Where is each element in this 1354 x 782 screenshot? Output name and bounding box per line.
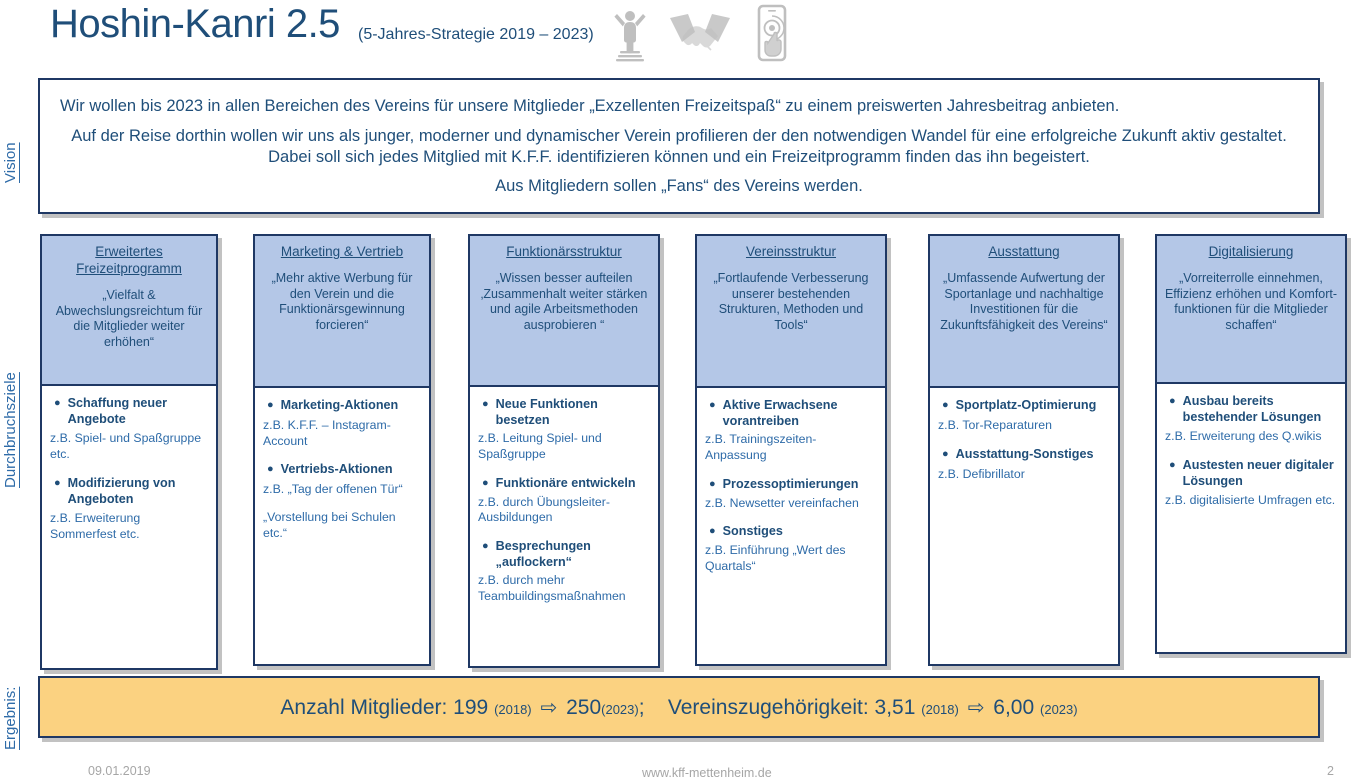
arrow-right-icon: ⇨: [537, 697, 560, 719]
list-item: ● Ausbau bereits bestehender Lösungen: [1165, 393, 1337, 425]
list-item: ● Schaffung neuer Angebote: [50, 395, 208, 427]
section-label-ergebnis: Ergebnis:: [2, 672, 19, 764]
vision-line-1: Wir wollen bis 2023 in allen Bereichen d…: [56, 96, 1302, 117]
breakthrough-column-vereinsstruktur[interactable]: Vereinsstruktur „Fortlaufende Verbesseru…: [695, 234, 887, 666]
column-body: ● Marketing-Aktionen z.B. K.F.F. – Insta…: [255, 388, 429, 664]
list-item-example: z.B. K.F.F. – Instagram-Account: [263, 418, 421, 449]
list-item-label: Marketing-Aktionen: [281, 397, 399, 413]
list-item-example: z.B. „Tag der offenen Tür“: [263, 482, 421, 498]
list-item-example: z.B. Erweiterung Sommerfest etc.: [50, 511, 208, 542]
column-body: ● Neue Funktionen besetzen z.B. Leitung …: [470, 387, 658, 666]
list-item: ● Vertriebs-Aktionen: [263, 461, 421, 478]
list-item-label: Vertriebs-Aktionen: [281, 461, 393, 477]
column-quote: „Mehr aktive Werbung für den Verein und …: [262, 271, 422, 334]
page-title: Hoshin-Kanri 2.5: [50, 2, 340, 47]
column-title: Vereinsstruktur: [704, 244, 878, 261]
metric2-to-year: (2023): [1040, 702, 1078, 717]
list-item-example: „Vorstellung bei Schulen etc.“: [263, 510, 421, 541]
list-item: ● Sonstiges: [705, 523, 877, 540]
column-title: Ausstattung: [937, 244, 1111, 261]
bullet-dot-icon: ●: [482, 538, 489, 555]
bullet-dot-icon: ●: [267, 397, 274, 414]
bullet-dot-icon: ●: [942, 446, 949, 463]
metric2-from-year: (2018): [921, 702, 959, 717]
section-label-vision: Vision: [2, 108, 19, 218]
list-item-label: Austesten neuer digitaler Lösungen: [1183, 457, 1337, 489]
column-title: Erweitertes Freizeitprogramm: [49, 244, 209, 278]
column-body: ● Sportplatz-Optimierung z.B. Tor-Repara…: [930, 388, 1118, 664]
metrics-separator: ;: [639, 696, 645, 719]
bullet-dot-icon: ●: [709, 476, 716, 493]
list-item-label: Ausstattung-Sonstiges: [956, 446, 1094, 462]
vision-line-2: Auf der Reise dorthin wollen wir uns als…: [56, 126, 1302, 169]
column-title: Funktionärsstruktur: [477, 244, 651, 261]
column-body: ● Aktive Erwachsene vorantreiben z.B. Tr…: [697, 388, 885, 664]
list-item-label: Funktionäre entwickeln: [496, 475, 636, 491]
bullet-dot-icon: ●: [482, 396, 489, 413]
list-item: ● Besprechungen „auflockern“: [478, 538, 650, 570]
column-quote: „Umfassende Aufwertung der Sportanlage u…: [937, 271, 1111, 334]
durchbruchsziele-columns: Erweitertes Freizeitprogramm „Vielfalt &…: [0, 234, 1354, 670]
list-item-example: z.B. Spiel- und Spaßgruppe etc.: [50, 431, 208, 462]
handshake-icon: [668, 8, 732, 63]
footer-page-number: 2: [1327, 764, 1334, 778]
list-item-label: Ausbau bereits bestehender Lösungen: [1183, 393, 1337, 425]
breakthrough-column-digitalisierung[interactable]: Digitalisierung „Vorreiterrolle einnehme…: [1155, 234, 1347, 654]
ergebnis-panel: Anzahl Mitglieder: 199 (2018) ⇨ 250(2023…: [38, 676, 1320, 738]
list-item: ● Funktionäre entwickeln: [478, 475, 650, 492]
list-item: ● Marketing-Aktionen: [263, 397, 421, 414]
list-item-example: z.B. Erweiterung des Q.wikis: [1165, 429, 1337, 445]
list-item-example: z.B. Einführung „Wert des Quartals“: [705, 543, 877, 574]
arrow-right-icon: ⇨: [965, 697, 988, 719]
smartphone-touch-icon: [752, 4, 792, 67]
list-item-label: Schaffung neuer Angebote: [68, 395, 208, 427]
bullet-dot-icon: ●: [482, 475, 489, 492]
list-item-label: Neue Funktionen besetzen: [496, 396, 650, 428]
vision-line-3: Aus Mitgliedern sollen „Fans“ des Verein…: [56, 176, 1302, 197]
list-item: ● Neue Funktionen besetzen: [478, 396, 650, 428]
result-metrics: Anzahl Mitglieder: 199 (2018) ⇨ 250(2023…: [280, 695, 1077, 720]
footer-url: www.kff-mettenheim.de: [642, 766, 772, 780]
list-item-label: Modifizierung von Angeboten: [68, 475, 208, 507]
breakthrough-column-funktionaersstruktur[interactable]: Funktionärsstruktur „Wissen besser aufte…: [468, 234, 660, 668]
list-item: ● Ausstattung-Sonstiges: [938, 446, 1110, 463]
list-item-example: z.B. Leitung Spiel- und Spaßgruppe: [478, 431, 650, 462]
bullet-dot-icon: ●: [1169, 457, 1176, 474]
column-title: Digitalisierung: [1164, 244, 1338, 261]
column-header: Erweitertes Freizeitprogramm „Vielfalt &…: [42, 236, 216, 386]
list-item: ● Modifizierung von Angeboten: [50, 475, 208, 507]
column-body: ● Ausbau bereits bestehender Lösungen z.…: [1157, 384, 1345, 652]
column-quote: „Vielfalt & Abwechslungsreichtum für die…: [49, 288, 209, 351]
list-item-example: z.B. Trainingszeiten-Anpassung: [705, 432, 877, 463]
list-item-example: z.B. digitalisierte Umfragen etc.: [1165, 493, 1337, 509]
column-header: Ausstattung „Umfassende Aufwertung der S…: [930, 236, 1118, 388]
metric1-label: Anzahl Mitglieder:: [280, 696, 447, 719]
list-item-example: z.B. Defibrillator: [938, 467, 1110, 483]
metric1-from-year: (2018): [494, 702, 532, 717]
list-item: ● Austesten neuer digitaler Lösungen: [1165, 457, 1337, 489]
bullet-dot-icon: ●: [54, 475, 61, 492]
metric2-label: Vereinszugehörigkeit:: [668, 696, 869, 719]
column-quote: „Wissen besser aufteilen ‚Zusammenhalt w…: [477, 271, 651, 334]
breakthrough-column-ausstattung[interactable]: Ausstattung „Umfassende Aufwertung der S…: [928, 234, 1120, 666]
list-item-example: z.B. Tor-Reparaturen: [938, 418, 1110, 434]
list-item: ● Sportplatz-Optimierung: [938, 397, 1110, 414]
column-body: ● Schaffung neuer Angebote z.B. Spiel- u…: [42, 386, 216, 668]
person-celebrating-on-podium-icon: [612, 4, 648, 67]
bullet-dot-icon: ●: [709, 397, 716, 414]
bullet-dot-icon: ●: [54, 395, 61, 412]
column-header: Marketing & Vertrieb „Mehr aktive Werbun…: [255, 236, 429, 388]
column-header: Funktionärsstruktur „Wissen besser aufte…: [470, 236, 658, 387]
list-item-label: Besprechungen „auflockern“: [496, 538, 650, 570]
metric2-to-value: 6,00: [993, 696, 1034, 719]
column-quote: „Vorreiterrolle einnehmen, Effizienz erh…: [1164, 271, 1338, 334]
metric1-to-value: 250: [566, 696, 601, 719]
list-item-label: Sportplatz-Optimierung: [956, 397, 1097, 413]
list-item-label: Sonstiges: [723, 523, 783, 539]
metric1-from-value: 199: [453, 696, 488, 719]
slide-footer: 09.01.2019 www.kff-mettenheim.de 2: [0, 762, 1354, 782]
bullet-dot-icon: ●: [267, 461, 274, 478]
metric2-from-value: 3,51: [875, 696, 916, 719]
list-item-example: z.B. durch Übungsleiter-Ausbildungen: [478, 495, 650, 526]
slide-header: Hoshin-Kanri 2.5 (5-Jahres-Strategie 201…: [0, 0, 1354, 66]
page-subtitle: (5-Jahres-Strategie 2019 – 2023): [358, 26, 594, 44]
column-quote: „Fortlaufende Verbesserung unserer beste…: [704, 271, 878, 334]
column-header: Digitalisierung „Vorreiterrolle einnehme…: [1157, 236, 1345, 384]
list-item: ● Aktive Erwachsene vorantreiben: [705, 397, 877, 429]
vision-panel: Wir wollen bis 2023 in allen Bereichen d…: [38, 78, 1320, 214]
metric1-to-year: (2023): [601, 702, 639, 717]
bullet-dot-icon: ●: [709, 523, 716, 540]
breakthrough-column-erweitertes-freizeitprogramm[interactable]: Erweitertes Freizeitprogramm „Vielfalt &…: [40, 234, 218, 670]
header-icon-group: [612, 4, 792, 67]
list-item-example: z.B. Newsetter vereinfachen: [705, 496, 877, 512]
breakthrough-column-marketing-vertrieb[interactable]: Marketing & Vertrieb „Mehr aktive Werbun…: [253, 234, 431, 666]
list-item-label: Aktive Erwachsene vorantreiben: [723, 397, 877, 429]
column-title: Marketing & Vertrieb: [262, 244, 422, 261]
bullet-dot-icon: ●: [942, 397, 949, 414]
bullet-dot-icon: ●: [1169, 393, 1176, 410]
footer-date: 09.01.2019: [88, 764, 151, 778]
list-item-example: z.B. durch mehr Teambuildingsmaßnahmen: [478, 573, 650, 604]
column-header: Vereinsstruktur „Fortlaufende Verbesseru…: [697, 236, 885, 388]
list-item: ● Prozessoptimierungen: [705, 476, 877, 493]
list-item-label: Prozessoptimierungen: [723, 476, 859, 492]
